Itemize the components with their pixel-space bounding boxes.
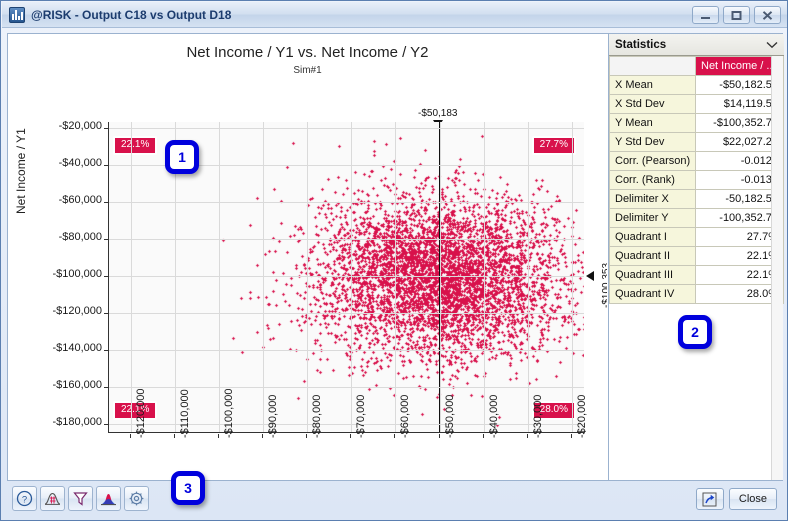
x-tick-mark <box>306 434 307 438</box>
x-tick-mark <box>262 434 263 438</box>
y-axis-label: Net Income / Y1 <box>14 128 28 214</box>
y-tick-mark <box>104 202 108 203</box>
callout-badge: 3 <box>171 471 205 505</box>
window-controls <box>692 6 781 24</box>
gear-icon <box>128 490 145 507</box>
quadrant-2-badge: 22.1% <box>113 136 157 155</box>
quadrant-1-badge: 27.7% <box>532 136 576 155</box>
export-button[interactable] <box>696 488 724 510</box>
gridline-horizontal <box>109 350 584 351</box>
x-tick-mark <box>571 434 572 438</box>
x-tick-label: -$100,000 <box>223 388 235 438</box>
table-row[interactable]: Delimiter X-50,182.51 <box>610 190 784 209</box>
gridline-vertical <box>484 122 485 432</box>
window-title-bar: @RISK - Output C18 vs Output D18 <box>2 2 787 28</box>
x-tick-label: -$120,000 <box>135 388 147 438</box>
y-tick-mark <box>104 128 108 129</box>
x-tick-label: -$40,000 <box>488 395 500 438</box>
y-tick-mark <box>104 350 108 351</box>
stat-key: Corr. (Pearson) <box>610 152 696 171</box>
dialog-actions: Close <box>696 488 777 510</box>
table-row[interactable]: Corr. (Rank)-0.0139 <box>610 171 784 190</box>
distribution-curve-icon <box>100 490 117 507</box>
y-tick-mark <box>104 165 108 166</box>
delimiter-y-label: -$100,353 <box>601 263 607 308</box>
gridline-horizontal <box>109 313 584 314</box>
statistics-scrollbar[interactable] <box>771 56 783 480</box>
y-tick-mark <box>104 424 108 425</box>
stat-key: Quadrant I <box>610 228 696 247</box>
x-tick-label: -$20,000 <box>576 395 588 438</box>
x-tick-label: -$50,000 <box>444 395 456 438</box>
table-row[interactable]: Quadrant III22.1% <box>610 266 784 285</box>
svg-text:?: ? <box>22 494 27 505</box>
y-tick-label: -$80,000 <box>8 231 102 243</box>
x-tick-mark <box>130 434 131 438</box>
add-overlay-button[interactable] <box>40 486 65 511</box>
export-arrow-icon <box>702 492 717 507</box>
gridline-vertical <box>263 122 264 432</box>
window-content: Net Income / Y1 vs. Net Income / Y2 Sim#… <box>7 33 783 481</box>
stat-key: X Mean <box>610 76 696 95</box>
stat-key: Delimiter X <box>610 190 696 209</box>
delimiter-y-handle[interactable] <box>586 271 594 281</box>
delimiter-x-label: -$50,183 <box>418 108 457 119</box>
y-tick-label: -$160,000 <box>8 379 102 391</box>
statistics-header[interactable]: Statistics <box>609 34 784 56</box>
x-tick-mark <box>174 434 175 438</box>
stat-key: Y Mean <box>610 114 696 133</box>
gridline-horizontal <box>109 202 584 203</box>
x-tick-label: -$70,000 <box>355 395 367 438</box>
x-tick-mark <box>350 434 351 438</box>
table-row[interactable]: Corr. (Pearson)-0.0123 <box>610 152 784 171</box>
x-tick-mark <box>439 434 440 438</box>
gridline-vertical <box>351 122 352 432</box>
stat-key: Quadrant II <box>610 247 696 266</box>
gridline-vertical <box>307 122 308 432</box>
risk-app-icon <box>9 7 25 23</box>
callout-badge: 1 <box>165 140 199 174</box>
gridline-vertical <box>572 122 573 432</box>
y-tick-label: -$120,000 <box>8 305 102 317</box>
x-tick-mark <box>218 434 219 438</box>
table-row[interactable]: Delimiter Y-100,352.72 <box>610 209 784 228</box>
gridline-vertical <box>440 122 441 432</box>
gridline-horizontal <box>109 239 584 240</box>
gridline-horizontal <box>109 128 584 129</box>
column-header-blank <box>610 57 696 76</box>
settings-button[interactable] <box>124 486 149 511</box>
stat-key: Quadrant IV <box>610 285 696 304</box>
help-button[interactable]: ? <box>12 486 37 511</box>
x-tick-mark <box>483 434 484 438</box>
table-row[interactable]: Quadrant I27.7% <box>610 228 784 247</box>
x-tick-label: -$110,000 <box>179 389 191 438</box>
table-row[interactable]: Quadrant IV28.0% <box>610 285 784 304</box>
y-tick-label: -$180,000 <box>8 416 102 428</box>
x-tick-label: -$30,000 <box>532 395 544 438</box>
x-tick-mark <box>394 434 395 438</box>
distribution-button[interactable] <box>96 486 121 511</box>
gridline-vertical <box>395 122 396 432</box>
chart-subtitle: Sim#1 <box>8 65 607 76</box>
chart-title: Net Income / Y1 vs. Net Income / Y2 <box>8 44 607 61</box>
window-title: @RISK - Output C18 vs Output D18 <box>31 8 231 22</box>
gridline-vertical <box>131 122 132 432</box>
bottom-toolbar: ? <box>7 482 783 515</box>
table-row[interactable]: X Mean-$50,182.51 <box>610 76 784 95</box>
stat-key: Corr. (Rank) <box>610 171 696 190</box>
table-row[interactable]: Quadrant II22.1% <box>610 247 784 266</box>
y-tick-label: -$100,000 <box>8 268 102 280</box>
gridline-horizontal <box>109 276 584 277</box>
callout-badge: 2 <box>678 315 712 349</box>
maximize-button[interactable] <box>723 6 750 24</box>
risk-scatter-window: @RISK - Output C18 vs Output D18 Net Inc… <box>0 0 788 521</box>
y-tick-mark <box>104 387 108 388</box>
distribution-grid-icon <box>44 490 61 507</box>
y-tick-mark <box>104 239 108 240</box>
chevron-down-icon[interactable] <box>766 36 778 54</box>
y-tick-label: -$140,000 <box>8 342 102 354</box>
x-tick-label: -$80,000 <box>311 395 323 438</box>
table-row[interactable]: X Std Dev$14,119.56 <box>610 95 784 114</box>
x-tick-label: -$60,000 <box>399 395 411 438</box>
filter-button[interactable] <box>68 486 93 511</box>
y-tick-mark <box>104 313 108 314</box>
stat-key: X Std Dev <box>610 95 696 114</box>
stat-key: Y Std Dev <box>610 133 696 152</box>
gridline-vertical <box>219 122 220 432</box>
statistics-title: Statistics <box>615 39 766 51</box>
gridline-horizontal <box>109 387 584 388</box>
filter-funnel-icon <box>72 490 89 507</box>
stat-key: Delimiter Y <box>610 209 696 228</box>
statistics-panel: Statistics Net Income / ... X Mean-$50,1… <box>608 34 783 480</box>
gridline-vertical <box>528 122 529 432</box>
table-row[interactable]: Y Std Dev$22,027.23 <box>610 133 784 152</box>
close-button[interactable] <box>754 6 781 24</box>
stat-key: Quadrant III <box>610 266 696 285</box>
y-tick-mark <box>104 276 108 277</box>
x-tick-label: -$90,000 <box>267 395 279 438</box>
statistics-rows: X Mean-$50,182.51X Std Dev$14,119.56Y Me… <box>610 76 784 304</box>
chart-tools-group: ? <box>12 486 149 511</box>
help-icon: ? <box>16 490 33 507</box>
table-header-row: Net Income / ... <box>610 57 784 76</box>
x-tick-mark <box>527 434 528 438</box>
table-row[interactable]: Y Mean-$100,352.72 <box>610 114 784 133</box>
close-dialog-button[interactable]: Close <box>729 488 777 510</box>
statistics-table: Net Income / ... X Mean-$50,182.51X Std … <box>609 56 784 304</box>
scatter-chart[interactable]: Net Income / Y1 vs. Net Income / Y2 Sim#… <box>8 34 607 480</box>
minimize-button[interactable] <box>692 6 719 24</box>
